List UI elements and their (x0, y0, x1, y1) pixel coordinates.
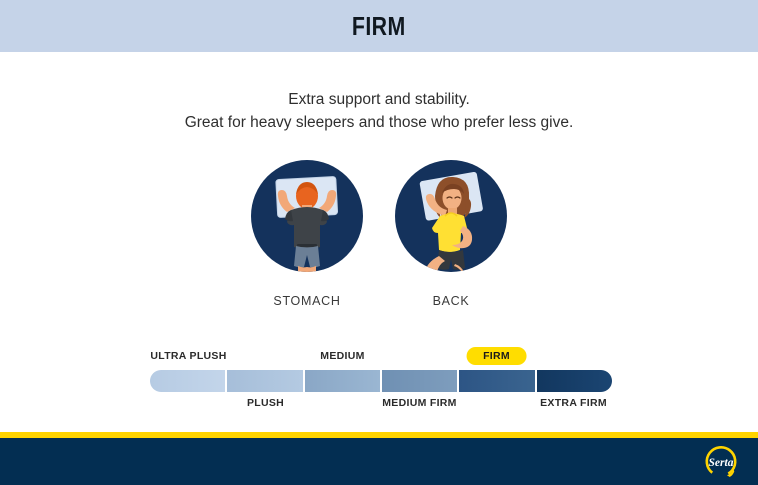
position-back[interactable]: BACK (395, 160, 507, 308)
serta-logo-text: Serta (709, 457, 734, 469)
scale-labels-bottom: PLUSHMEDIUM FIRMEXTRA FIRM (150, 397, 612, 413)
scale-label-medium-firm: MEDIUM FIRM (382, 397, 456, 409)
firmness-scale: ULTRA PLUSHMEDIUMFIRM PLUSHMEDIUM FIRMEX… (150, 350, 612, 413)
firmness-segment-medium[interactable] (305, 370, 382, 392)
subtitle-line-2: Great for heavy sleepers and those who p… (0, 111, 758, 134)
firmness-segment-extra-firm[interactable] (537, 370, 612, 392)
back-sleeper-icon (395, 160, 507, 272)
firmness-bar[interactable] (150, 370, 612, 392)
firmness-segment-ultra-plush[interactable] (150, 370, 227, 392)
subtitle-line-1: Extra support and stability. (0, 88, 758, 111)
firmness-segment-medium-firm[interactable] (382, 370, 459, 392)
scale-label-medium: MEDIUM (320, 350, 364, 362)
serta-logo[interactable]: Serta (702, 444, 740, 480)
scale-label-ultra-plush: ULTRA PLUSH (150, 350, 226, 362)
firmness-segment-firm[interactable] (459, 370, 536, 392)
footer-bar (0, 438, 758, 485)
page-title: FIRM (352, 11, 406, 42)
subtitle-block: Extra support and stability. Great for h… (0, 88, 758, 134)
scale-labels-top: ULTRA PLUSHMEDIUMFIRM (150, 350, 612, 366)
header-bar: FIRM (0, 0, 758, 52)
firmness-segment-plush[interactable] (227, 370, 304, 392)
position-label-back: BACK (433, 294, 470, 308)
stomach-sleeper-icon (251, 160, 363, 272)
scale-label-firm: FIRM (466, 347, 527, 365)
scale-label-extra-firm: EXTRA FIRM (540, 397, 607, 409)
scale-label-plush: PLUSH (247, 397, 284, 409)
position-stomach[interactable]: STOMACH (251, 160, 363, 308)
position-label-stomach: STOMACH (273, 294, 340, 308)
sleep-positions: STOMACH (0, 160, 758, 308)
